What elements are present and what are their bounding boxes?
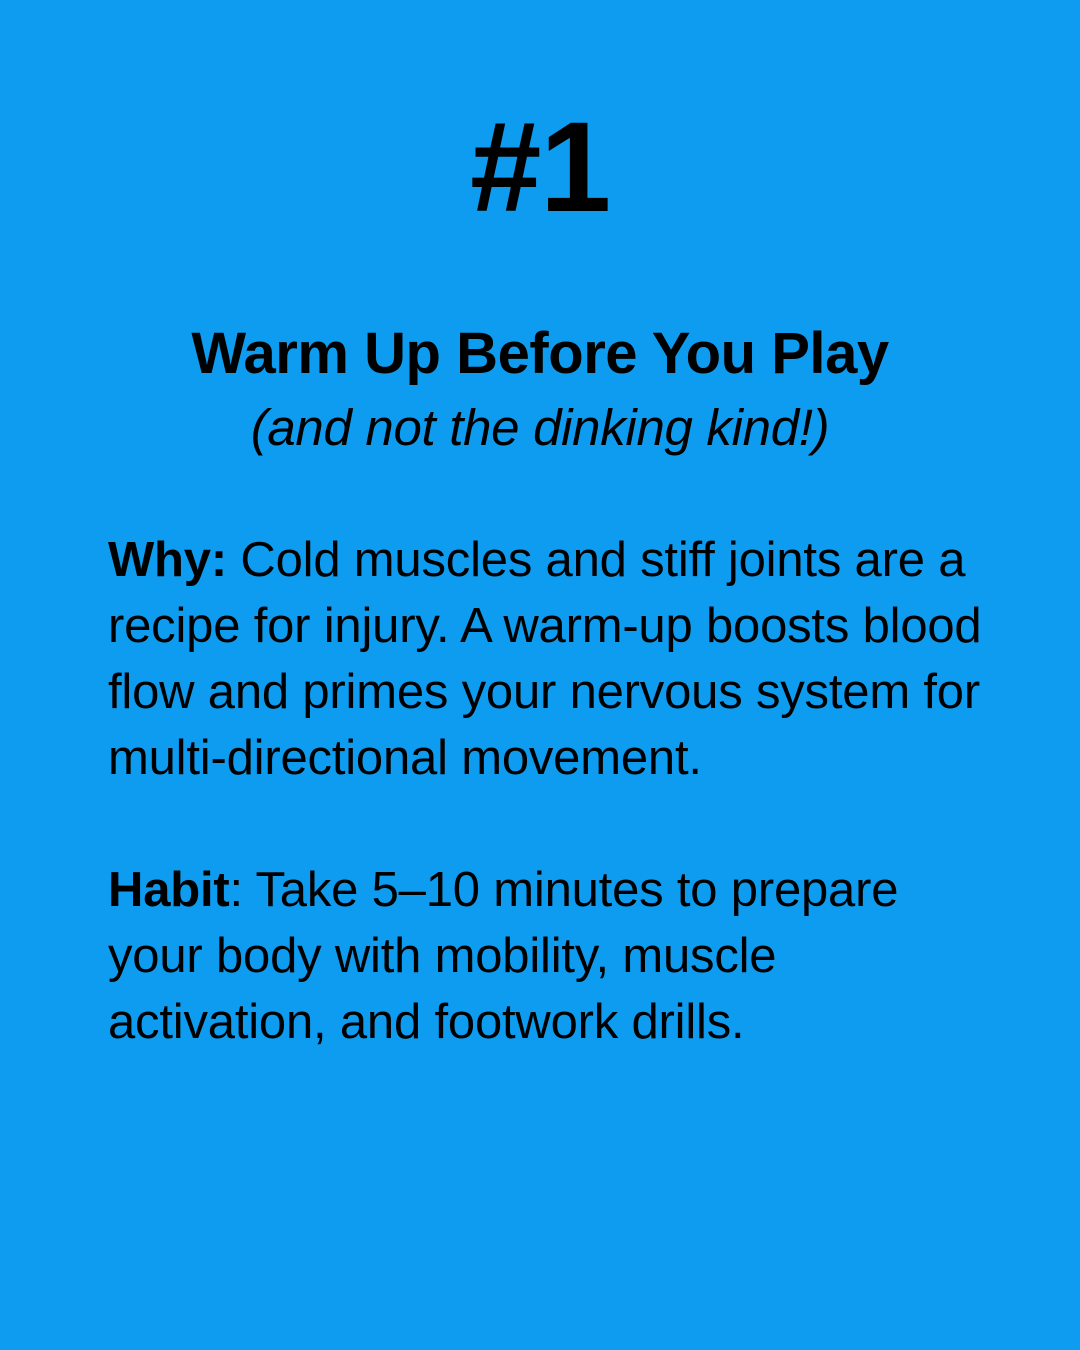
habit-paragraph: Habit: Take 5–10 minutes to prepare your… <box>108 857 998 1055</box>
rank-number: #1 <box>0 104 1080 232</box>
body-copy: Why: Cold muscles and stiff joints are a… <box>108 527 998 1055</box>
why-paragraph: Why: Cold muscles and stiff joints are a… <box>108 527 998 791</box>
page-subtitle: (and not the dinking kind!) <box>0 395 1080 461</box>
headline-block: Warm Up Before You Play (and not the din… <box>0 322 1080 461</box>
tip-card: #1 Warm Up Before You Play (and not the … <box>0 0 1080 1350</box>
page-title: Warm Up Before You Play <box>0 322 1080 387</box>
why-text: Cold muscles and stiff joints are a reci… <box>108 533 982 785</box>
habit-label: Habit <box>108 863 230 917</box>
why-label: Why: <box>108 533 227 587</box>
